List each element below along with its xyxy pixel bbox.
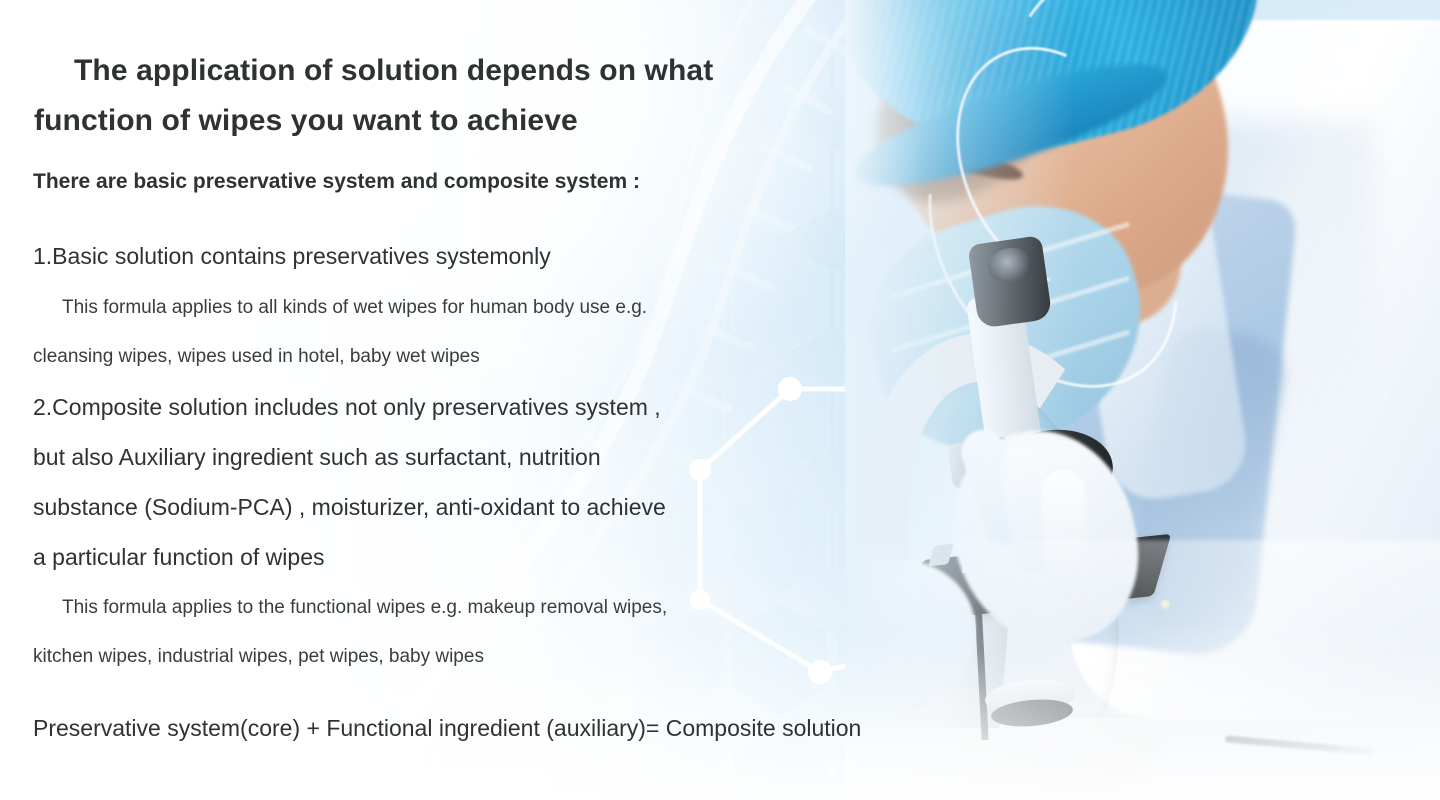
page-title-line-1: The application of solution depends on w… (74, 54, 713, 88)
slide-canvas: The application of solution depends on w… (0, 0, 1440, 800)
section-1-body-line-1: This formula applies to all kinds of wet… (62, 297, 647, 319)
section-2-body-line-1: This formula applies to the functional w… (62, 597, 667, 619)
section-2-heading-line-2: but also Auxiliary ingredient such as su… (33, 444, 601, 471)
summary-equation: Preservative system(core) + Functional i… (33, 715, 861, 742)
section-1-heading: 1.Basic solution contains preservatives … (33, 243, 551, 270)
section-2-heading-line-3: substance (Sodium-PCA) , moisturizer, an… (33, 494, 666, 521)
page-title-line-2: function of wipes you want to achieve (34, 104, 578, 138)
section-2-body-line-2: kitchen wipes, industrial wipes, pet wip… (33, 646, 484, 668)
text-content: The application of solution depends on w… (0, 0, 1060, 800)
section-2-heading-line-4: a particular function of wipes (33, 544, 325, 571)
subtitle: There are basic preservative system and … (33, 170, 640, 194)
section-1-body-line-2: cleansing wipes, wipes used in hotel, ba… (33, 346, 480, 368)
section-2-heading-line-1: 2.Composite solution includes not only p… (33, 394, 661, 421)
